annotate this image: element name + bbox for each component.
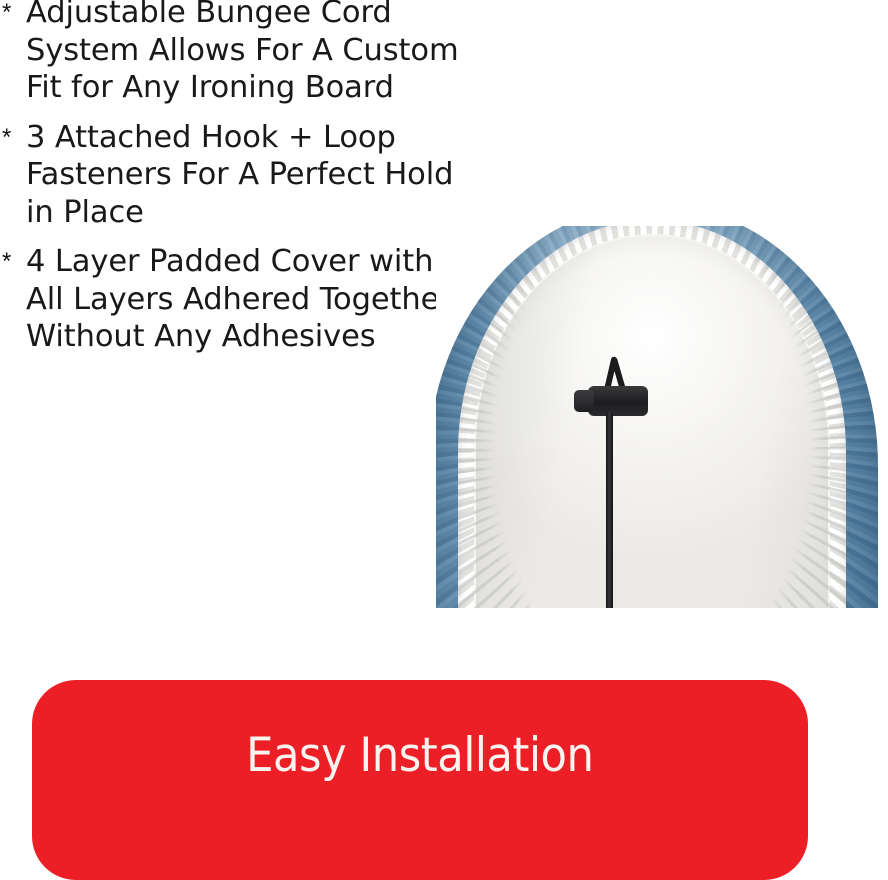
feature-text: Adjustable Bungee Cord System Allows For…	[26, 0, 470, 107]
feature-list: * Adjustable Bungee Cord System Allows F…	[0, 0, 470, 338]
feature-text: 4 Layer Padded Cover with All Layers Adh…	[26, 243, 470, 356]
easy-installation-button[interactable]: Easy Installation	[32, 680, 808, 880]
bungee-cord-lock	[574, 386, 648, 416]
feature-list-item: * 3 Attached Hook + Loop Fasteners For A…	[0, 119, 470, 232]
feature-list-item: * 4 Layer Padded Cover with All Layers A…	[0, 243, 470, 356]
bungee-cord-tail	[606, 412, 613, 608]
cord-lock-release-tab	[574, 390, 594, 412]
feature-text: 3 Attached Hook + Loop Fasteners For A P…	[26, 119, 470, 232]
bullet-star-icon: *	[0, 119, 26, 157]
product-photo	[436, 226, 888, 608]
easy-installation-label: Easy Installation	[246, 732, 593, 779]
feature-list-item: * Adjustable Bungee Cord System Allows F…	[0, 0, 470, 107]
cord-lock-body	[588, 386, 648, 416]
bullet-star-icon: *	[0, 0, 26, 32]
ironing-board-illustration	[436, 226, 888, 608]
bullet-star-icon: *	[0, 243, 26, 281]
